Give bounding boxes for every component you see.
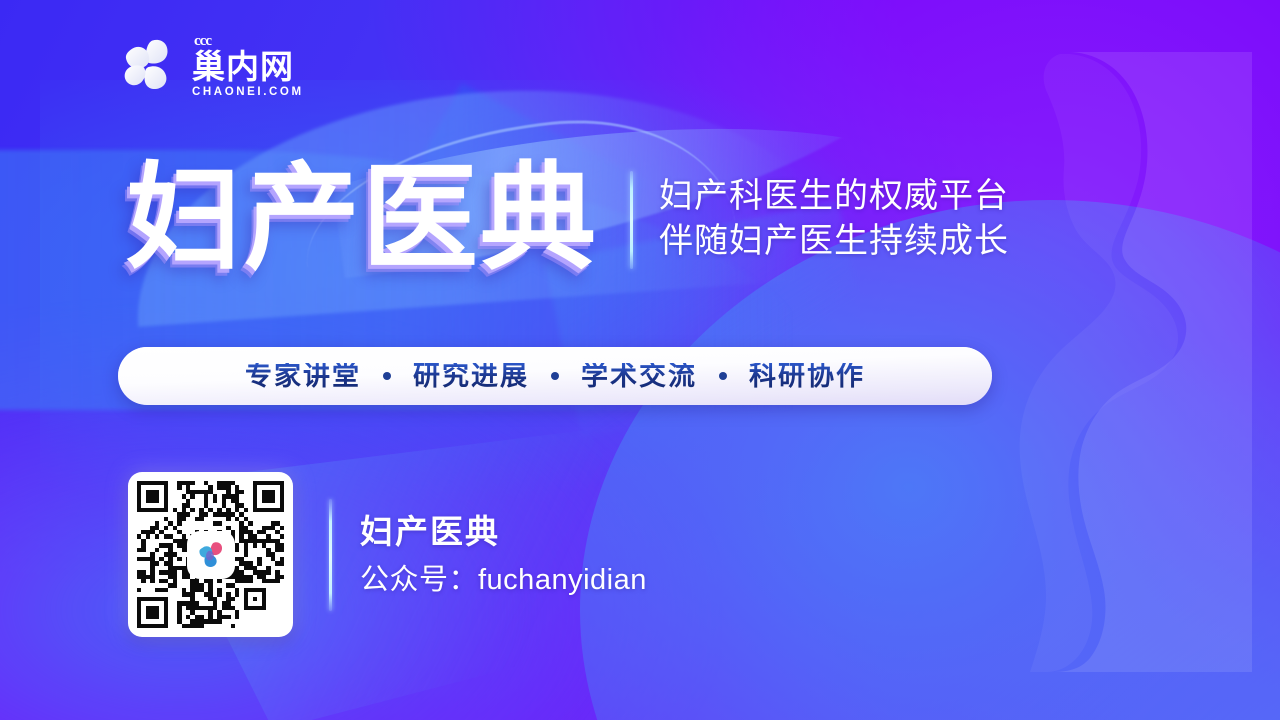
bottom-right-blue-curve [580, 200, 1280, 720]
mid-blue-glow [40, 80, 860, 500]
hero-divider [630, 171, 633, 269]
nav-separator-dot [551, 372, 559, 380]
fuchanyidian-butterfly-icon [189, 533, 233, 577]
nav-item-research-progress[interactable]: 研究进展 [413, 363, 529, 390]
nav-item-research-collaboration[interactable]: 科研协作 [749, 363, 865, 390]
qr-caption: 妇产医典 公众号：fuchanyidian [360, 515, 647, 595]
nav-separator-dot [383, 372, 391, 380]
tagline-line-2: 伴随妇产医生持续成长 [659, 222, 1009, 261]
brand-name-cn: 巢内网 [192, 50, 304, 84]
nav-separator-dot [719, 372, 727, 380]
page-title: 妇产医典 [126, 160, 598, 276]
qr-divider [329, 499, 332, 611]
brand-wordmark: ccc 巢内网 CHAONEI.COM [192, 32, 304, 98]
hero-section: 妇产医典 妇产科医生的权威平台 伴随妇产医生持续成长 [126, 160, 1009, 276]
brand-logo[interactable]: ccc 巢内网 CHAONEI.COM [118, 32, 304, 98]
promotional-banner: ccc 巢内网 CHAONEI.COM 妇产医典 妇产科医生的权威平台 伴随妇产… [0, 0, 1280, 720]
category-pill-bar: 专家讲堂 研究进展 学术交流 科研协作 [118, 347, 992, 405]
tagline-line-1: 妇产科医生的权威平台 [659, 177, 1009, 216]
nav-item-academic-exchange[interactable]: 学术交流 [581, 363, 697, 390]
nav-item-expert-lecture[interactable]: 专家讲堂 [245, 363, 361, 390]
qr-contact-block: 妇产医典 公众号：fuchanyidian [128, 472, 647, 637]
brand-accent-mark: ccc [194, 34, 304, 49]
qr-code[interactable] [128, 472, 293, 637]
account-name: 妇产医典 [360, 515, 647, 548]
brand-domain: CHAONEI.COM [192, 87, 304, 99]
account-handle: 公众号：fuchanyidian [360, 566, 647, 595]
hero-tagline: 妇产科医生的权威平台 伴随妇产医生持续成长 [659, 175, 1009, 262]
violet-glow [640, 0, 1280, 560]
chaonei-butterfly-logo-icon [118, 34, 180, 96]
